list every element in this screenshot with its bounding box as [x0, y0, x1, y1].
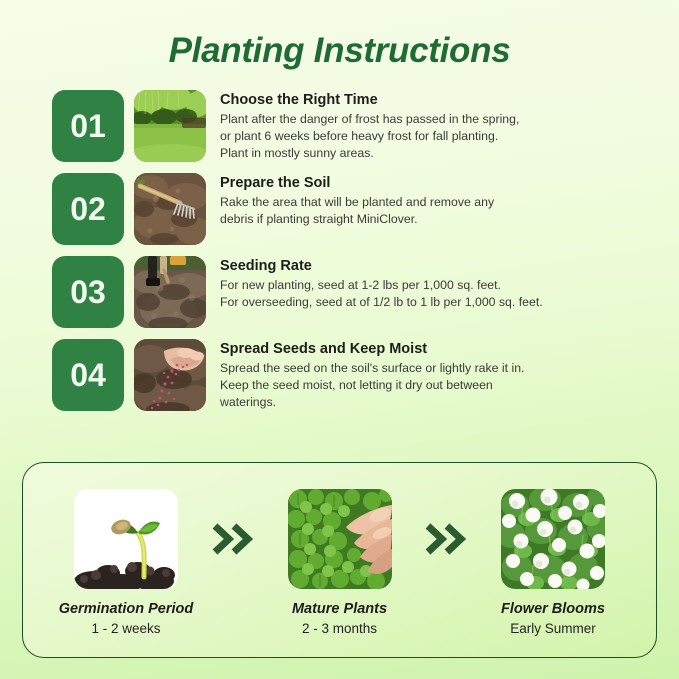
step-body-line: For overseeding, seed at of 1/2 lb to 1 …	[220, 294, 653, 311]
step-title: Choose the Right Time	[220, 91, 653, 109]
stage-duration: 2 - 3 months	[261, 621, 419, 636]
rake-on-soil-photo	[134, 173, 206, 245]
step-body-line: Rake the area that will be planted and r…	[220, 194, 653, 211]
germinating-seedling-photo	[74, 489, 178, 589]
stage-label: Flower Blooms	[474, 601, 632, 617]
step-body-line: Plant after the danger of frost has pass…	[220, 111, 653, 128]
step-body-line: Plant in mostly sunny areas.	[220, 145, 653, 162]
step-body-line: Keep the seed moist, not letting it dry …	[220, 377, 653, 394]
step-number-badge: 03	[52, 256, 124, 328]
step-title: Prepare the Soil	[220, 174, 653, 192]
timeline-stage-germination: Germination Period 1 - 2 weeks	[47, 489, 205, 636]
step-text: Spread Seeds and Keep Moist Spread the s…	[220, 339, 653, 411]
raking-soil-photo	[134, 256, 206, 328]
page-title: Planting Instructions	[0, 0, 679, 68]
step-body-line: For new planting, seed at 1-2 lbs per 1,…	[220, 277, 653, 294]
white-clover-blooms-photo	[501, 489, 605, 589]
timeline-stage-bloom: Flower Blooms Early Summer	[474, 489, 632, 636]
hand-spreading-seed-photo	[134, 339, 206, 411]
list-item: 02	[52, 173, 653, 245]
step-number-badge: 01	[52, 90, 124, 162]
step-body-line: debris if planting straight MiniClover.	[220, 211, 653, 228]
double-chevron-right-icon	[205, 489, 261, 555]
step-text: Choose the Right Time Plant after the da…	[220, 90, 653, 162]
stage-duration: 1 - 2 weeks	[47, 621, 205, 636]
step-number-badge: 02	[52, 173, 124, 245]
timeline-stage-mature: Mature Plants 2 - 3 months	[261, 489, 419, 636]
step-body: Rake the area that will be planted and r…	[220, 194, 653, 228]
step-body: Plant after the danger of frost has pass…	[220, 111, 653, 162]
stage-label: Mature Plants	[261, 601, 419, 617]
hand-in-clover-photo	[288, 489, 392, 589]
step-body-line: Spread the seed on the soil's surface or…	[220, 360, 653, 377]
double-chevron-right-icon	[419, 489, 475, 555]
list-item: 04	[52, 339, 653, 411]
stage-duration: Early Summer	[474, 621, 632, 636]
steps-list: 01	[0, 90, 679, 411]
planting-instructions-infographic: Planting Instructions 01	[0, 0, 679, 411]
stage-label: Germination Period	[47, 601, 205, 617]
step-body: Spread the seed on the soil's surface or…	[220, 360, 653, 411]
list-item: 03	[52, 256, 653, 328]
step-title: Spread Seeds and Keep Moist	[220, 340, 653, 358]
step-number-badge: 04	[52, 339, 124, 411]
step-body-line: or plant 6 weeks before heavy frost for …	[220, 128, 653, 145]
step-text: Prepare the Soil Rake the area that will…	[220, 173, 653, 228]
step-body-line: waterings.	[220, 394, 653, 411]
step-body: For new planting, seed at 1-2 lbs per 1,…	[220, 277, 653, 311]
step-title: Seeding Rate	[220, 257, 653, 275]
list-item: 01	[52, 90, 653, 162]
step-text: Seeding Rate For new planting, seed at 1…	[220, 256, 653, 311]
lawn-garden-photo	[134, 90, 206, 162]
growth-timeline-panel: Germination Period 1 - 2 weeks	[22, 462, 657, 658]
